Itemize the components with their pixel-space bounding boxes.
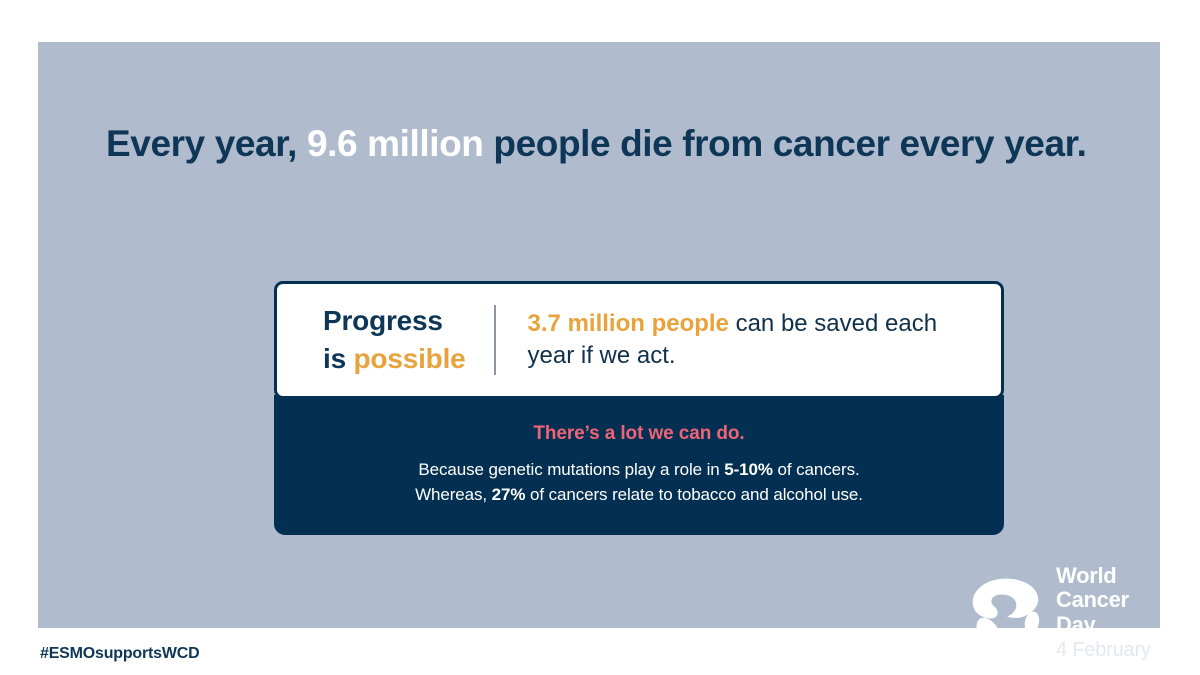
navy-line-2-stat: 27% — [492, 485, 526, 504]
card-navy-section: There’s a lot we can do. Because genetic… — [274, 395, 1004, 535]
message-card: Progress is possible 3.7 million people … — [274, 281, 1004, 535]
logo-wordmark: World Cancer Day 4 February — [1046, 564, 1173, 663]
headline: Every year, 9.6 million people die from … — [106, 124, 1116, 165]
world-cancer-day-mark-icon — [968, 574, 1046, 652]
headline-part2: people die from cancer every year. — [493, 123, 1086, 164]
logo-line-3: 4 February — [1056, 637, 1173, 662]
navy-section-line-2: Whereas, 27% of cancers relate to tobacc… — [274, 483, 1004, 508]
world-cancer-day-logo: World Cancer Day 4 February — [968, 571, 1173, 655]
card-saved-statement: 3.7 million people can be saved each yea… — [496, 308, 1001, 372]
logo-line-2: Cancer Day — [1056, 588, 1173, 637]
logo-line-1: World — [1056, 564, 1173, 589]
navy-line-1-b: of cancers. — [773, 460, 860, 479]
saved-stat-accent: 3.7 million people — [528, 310, 729, 337]
headline-highlight: 9.6 million — [307, 123, 493, 164]
hashtag: #ESMOsupportsWCD — [40, 645, 199, 663]
headline-part1: Every year, — [106, 123, 307, 164]
progress-line-2-accent: possible — [354, 343, 466, 374]
main-blue-panel: Every year, 9.6 million people die from … — [38, 42, 1160, 628]
progress-line-2-prefix: is — [323, 343, 354, 374]
progress-line-2: is possible — [323, 340, 466, 378]
navy-line-1-a: Because genetic mutations play a role in — [418, 460, 724, 479]
navy-section-line-1: Because genetic mutations play a role in… — [274, 458, 1004, 483]
navy-section-title: There’s a lot we can do. — [274, 423, 1004, 445]
navy-line-2-a: Whereas, — [415, 485, 492, 504]
navy-line-2-b: of cancers relate to tobacco and alcohol… — [525, 485, 863, 504]
card-progress-block: Progress is possible — [277, 302, 494, 378]
progress-line-1: Progress — [323, 302, 466, 340]
infographic-canvas: Every year, 9.6 million people die from … — [0, 0, 1200, 675]
card-white-section: Progress is possible 3.7 million people … — [274, 281, 1004, 399]
navy-line-1-stat: 5-10% — [724, 460, 773, 479]
